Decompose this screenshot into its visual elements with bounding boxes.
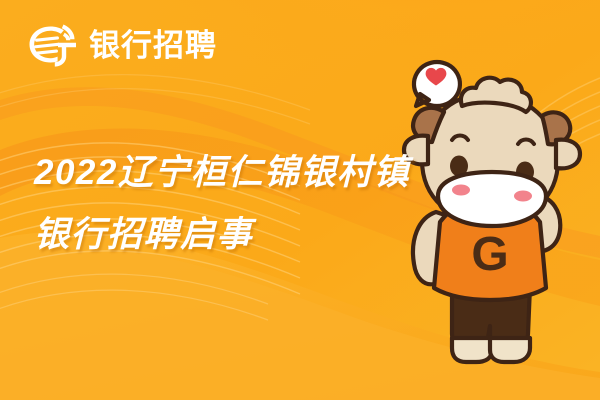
title-line-2: 银行招聘启事 <box>34 204 410 266</box>
logo-text: 银行招聘 <box>89 30 217 61</box>
banner-title: 2022辽宁桓仁锦银村镇 银行招聘启事 <box>34 142 410 266</box>
heart-speech-bubble <box>414 62 460 106</box>
shirt-letter: G <box>471 228 508 281</box>
title-line-1: 2022辽宁桓仁锦银村镇 <box>34 142 410 204</box>
logo[interactable]: 银行招聘 <box>26 20 217 70</box>
globe-swoosh-logo-icon <box>26 20 80 70</box>
recruitment-banner: 银行招聘 2022辽宁桓仁锦银村镇 银行招聘启事 <box>0 0 600 400</box>
